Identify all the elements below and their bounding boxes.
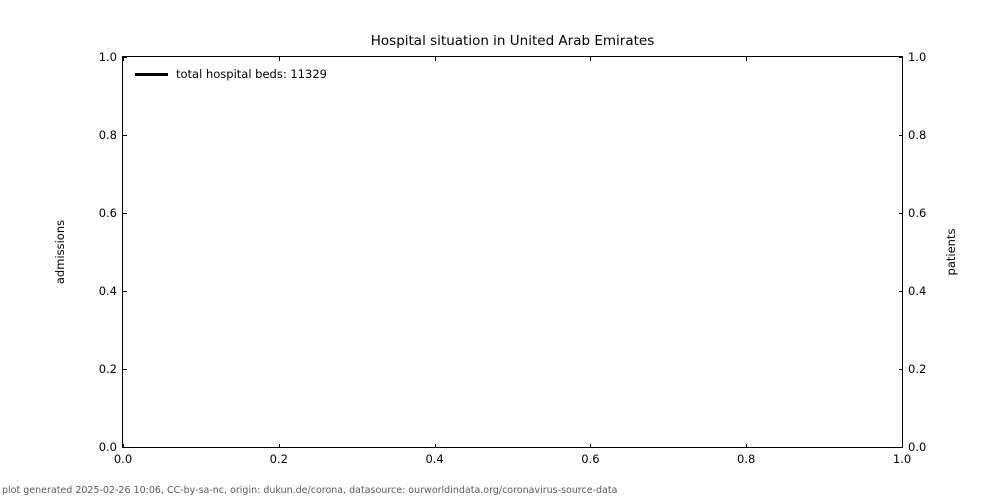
x-axis-tick-top (746, 57, 747, 61)
y-axis-tick-label-left: 0.6 (99, 207, 117, 219)
chart-title: Hospital situation in United Arab Emirat… (122, 33, 903, 49)
x-axis-tick (435, 444, 436, 448)
y-axis-tick-left (123, 369, 127, 370)
y-axis-tick-label-left: 1.0 (99, 51, 117, 63)
y-axis-label-right: patients (945, 229, 957, 276)
x-axis-tick-label: 0.2 (270, 453, 288, 465)
y-axis-tick-label-left: 0.2 (99, 363, 117, 375)
y-axis-tick-left (123, 291, 127, 292)
y-axis-tick-label-left: 0.4 (99, 285, 117, 297)
footer-attribution-note: plot generated 2025-02-26 10:06, CC-by-s… (2, 485, 617, 496)
y-axis-tick-label-right: 0.4 (908, 285, 926, 297)
x-axis-tick (590, 444, 591, 448)
x-axis-tick-top (279, 57, 280, 61)
x-axis-tick-label: 0.6 (581, 453, 599, 465)
x-axis-tick-top (435, 57, 436, 61)
y-axis-label-left: admissions (54, 220, 66, 284)
x-axis-tick (902, 444, 903, 448)
chart-figure: Hospital situation in United Arab Emirat… (0, 0, 1000, 500)
x-axis-tick-label: 0.8 (737, 453, 755, 465)
y-axis-tick-left (123, 213, 127, 214)
legend-entry-label: total hospital beds: 11329 (176, 68, 327, 81)
y-axis-tick-left (123, 447, 127, 448)
y-axis-tick-right (899, 213, 903, 214)
y-axis-tick-right (899, 447, 903, 448)
y-axis-tick-label-right: 1.0 (908, 51, 926, 63)
x-axis-tick-top (902, 57, 903, 61)
x-axis-tick (279, 444, 280, 448)
y-axis-tick-label-right: 0.8 (908, 129, 926, 141)
legend-line-sample-icon (135, 73, 168, 75)
plot-area: 0.00.20.40.60.81.00.00.20.40.60.81.00.00… (122, 56, 903, 448)
x-axis-tick-top (590, 57, 591, 61)
x-axis-tick-label: 1.0 (893, 453, 911, 465)
x-axis-tick-label: 0.0 (114, 453, 132, 465)
x-axis-tick (746, 444, 747, 448)
y-axis-tick-right (899, 369, 903, 370)
chart-legend: total hospital beds: 11329 (135, 68, 327, 81)
y-axis-tick-right (899, 135, 903, 136)
y-axis-tick-left (123, 135, 127, 136)
y-axis-tick-label-right: 0.6 (908, 207, 926, 219)
x-axis-tick (123, 444, 124, 448)
x-axis-tick-label: 0.4 (425, 453, 443, 465)
y-axis-tick-label-left: 0.8 (99, 129, 117, 141)
y-axis-tick-label-right: 0.2 (908, 363, 926, 375)
x-axis-tick-top (123, 57, 124, 61)
y-axis-tick-right (899, 291, 903, 292)
